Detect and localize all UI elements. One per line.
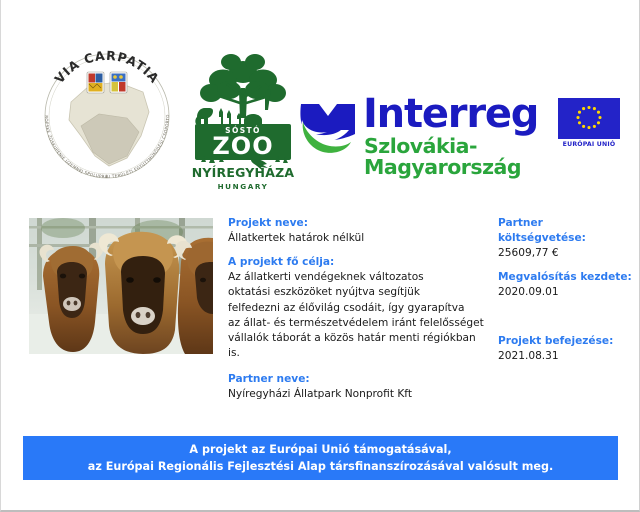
poster-root: VIA CARPATIA EURÓPSKÉ ZOSKUPENIE ÚZEMNEJ… bbox=[0, 0, 640, 512]
via-carpatia-logo: VIA CARPATIA EURÓPSKÉ ZOSKUPENIE ÚZEMNEJ… bbox=[31, 40, 183, 192]
interreg-logo: Interreg Szlovákia-Magyarország bbox=[295, 80, 547, 166]
start-date-label: Megvalósítás kezdete: bbox=[498, 270, 638, 285]
eu-flag-icon bbox=[558, 98, 620, 139]
project-goal-line-4: az állat- és természetvédelem iránt fele… bbox=[228, 316, 488, 331]
start-date-value: 2020.09.01 bbox=[498, 285, 638, 300]
soto-zoo-logo: SÓSTÓ ZOO NYÍREGYHÁZA HUNGARY bbox=[191, 46, 295, 196]
project-goal-line-2: oktatási eszközöket nyújtva segítjük bbox=[228, 285, 488, 300]
project-details-column: Partner költségvetése: 25609,77 € Megval… bbox=[498, 216, 638, 365]
partner-budget-value: 25609,77 € bbox=[498, 246, 638, 261]
logo-bar: VIA CARPATIA EURÓPSKÉ ZOSKUPENIE ÚZEMNEJ… bbox=[1, 18, 640, 203]
eu-flag-label: EURÓPAI UNIÓ bbox=[558, 141, 620, 148]
spacer bbox=[498, 300, 638, 334]
svg-text:ZOO: ZOO bbox=[212, 132, 273, 160]
svg-text:NYÍREGYHÁZA: NYÍREGYHÁZA bbox=[192, 165, 295, 180]
spacer bbox=[228, 246, 488, 255]
project-goal-line-5: vállalók táborát a közös határ menti rég… bbox=[228, 331, 488, 361]
content-area: Projekt neve: Állatkertek határok nélkül… bbox=[1, 210, 640, 410]
end-date-label: Projekt befejezése: bbox=[498, 334, 638, 349]
interreg-wordmark: Interreg bbox=[363, 94, 538, 134]
interreg-mark-icon bbox=[297, 100, 359, 162]
spacer bbox=[228, 361, 488, 372]
funding-statement-line-1: A projekt az Európai Unió támogatásával, bbox=[189, 441, 451, 458]
partner-budget-label-line-2: költségvetése: bbox=[498, 231, 638, 246]
interreg-programme-name: Szlovákia-Magyarország bbox=[364, 136, 547, 177]
spacer bbox=[498, 261, 638, 270]
partner-name-value: Nyíregyházi Állatpark Nonprofit Kft bbox=[228, 387, 488, 402]
project-name-label: Projekt neve: bbox=[228, 216, 488, 231]
project-info-column: Projekt neve: Állatkertek határok nélkül… bbox=[228, 216, 488, 403]
project-name-value: Állatkertek határok nélkül bbox=[228, 231, 488, 246]
end-date-value: 2021.08.31 bbox=[498, 349, 638, 364]
eu-flag-block: EURÓPAI UNIÓ bbox=[558, 98, 624, 154]
svg-text:HUNGARY: HUNGARY bbox=[218, 182, 269, 191]
partner-budget-label-line-1: Partner bbox=[498, 216, 638, 231]
partner-name-label: Partner neve: bbox=[228, 372, 488, 387]
funding-statement-line-2: az Európai Regionális Fejlesztési Alap t… bbox=[88, 458, 553, 475]
project-goal-line-3: felfedezni az élővilág csodáit, így gyar… bbox=[228, 301, 488, 316]
project-goal-label: A projekt fő célja: bbox=[228, 255, 488, 270]
svg-text:VIA CARPATIA: VIA CARPATIA bbox=[51, 48, 162, 86]
eu-funding-banner: A projekt az Európai Unió támogatásával,… bbox=[23, 436, 618, 480]
project-goal-line-1: Az állatkerti vendégeknek változatos bbox=[228, 270, 488, 285]
bison-photo bbox=[29, 218, 213, 354]
